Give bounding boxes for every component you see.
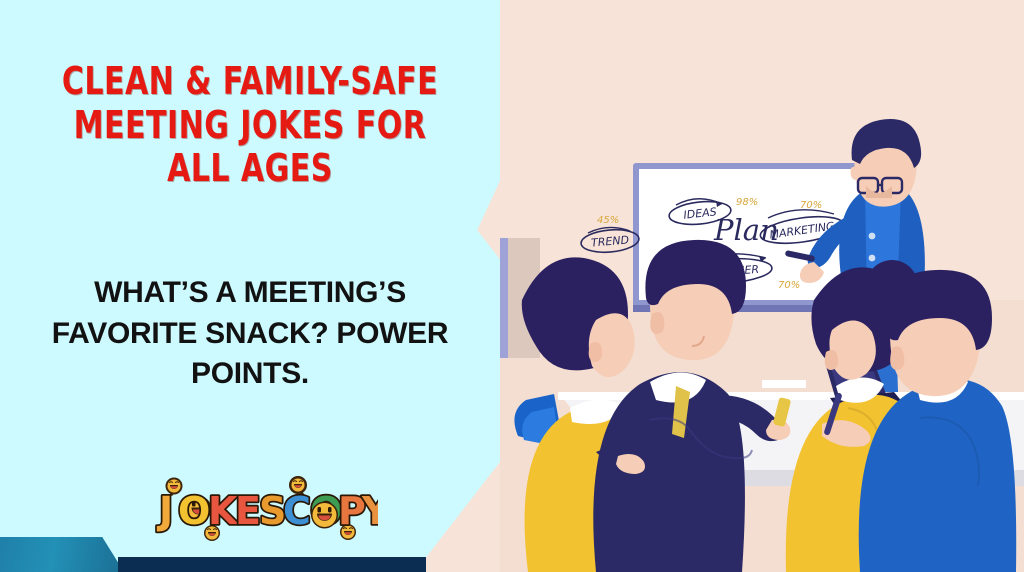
svg-text:O: O [178, 489, 210, 533]
logo-wordmark: J O K E S C O P Y [156, 489, 378, 533]
bubble-marketing-percent: 70% [800, 200, 822, 211]
footer-navy-bar [118, 557, 426, 572]
svg-text:K: K [208, 489, 239, 533]
svg-text:C: C [283, 489, 311, 533]
bubble-ideas-percent: 98% [736, 197, 758, 208]
svg-text:Y: Y [361, 489, 378, 533]
footer-teal-accent-bar [0, 537, 124, 572]
back-partition-edge [500, 238, 508, 358]
bubble-trend-percent: 45% [597, 215, 619, 226]
brand-logo[interactable]: J O K E S C O P Y [152, 474, 378, 542]
svg-text:E: E [235, 489, 261, 533]
joke-text: WHAT’S A MEETING’S FAVORITE SNACK? POWER… [40, 273, 460, 395]
page-title: CLEAN & FAMILY-SAFE MEETING JOKES FOR AL… [48, 60, 453, 191]
woman-ear [589, 342, 602, 362]
man-ear [650, 312, 664, 334]
poster-canvas: CLEAN & FAMILY-SAFE MEETING JOKES FOR AL… [0, 0, 1024, 572]
bubble-customer-percent: 70% [778, 280, 800, 291]
meeting-illustration: Plan IDEAS 98% TREND 45% MARKETING [500, 0, 1024, 572]
table-paper-center [762, 380, 806, 388]
logo-emoji-on-letter-o [311, 502, 338, 529]
svg-text:J: J [156, 489, 173, 533]
svg-text:S: S [259, 489, 286, 533]
